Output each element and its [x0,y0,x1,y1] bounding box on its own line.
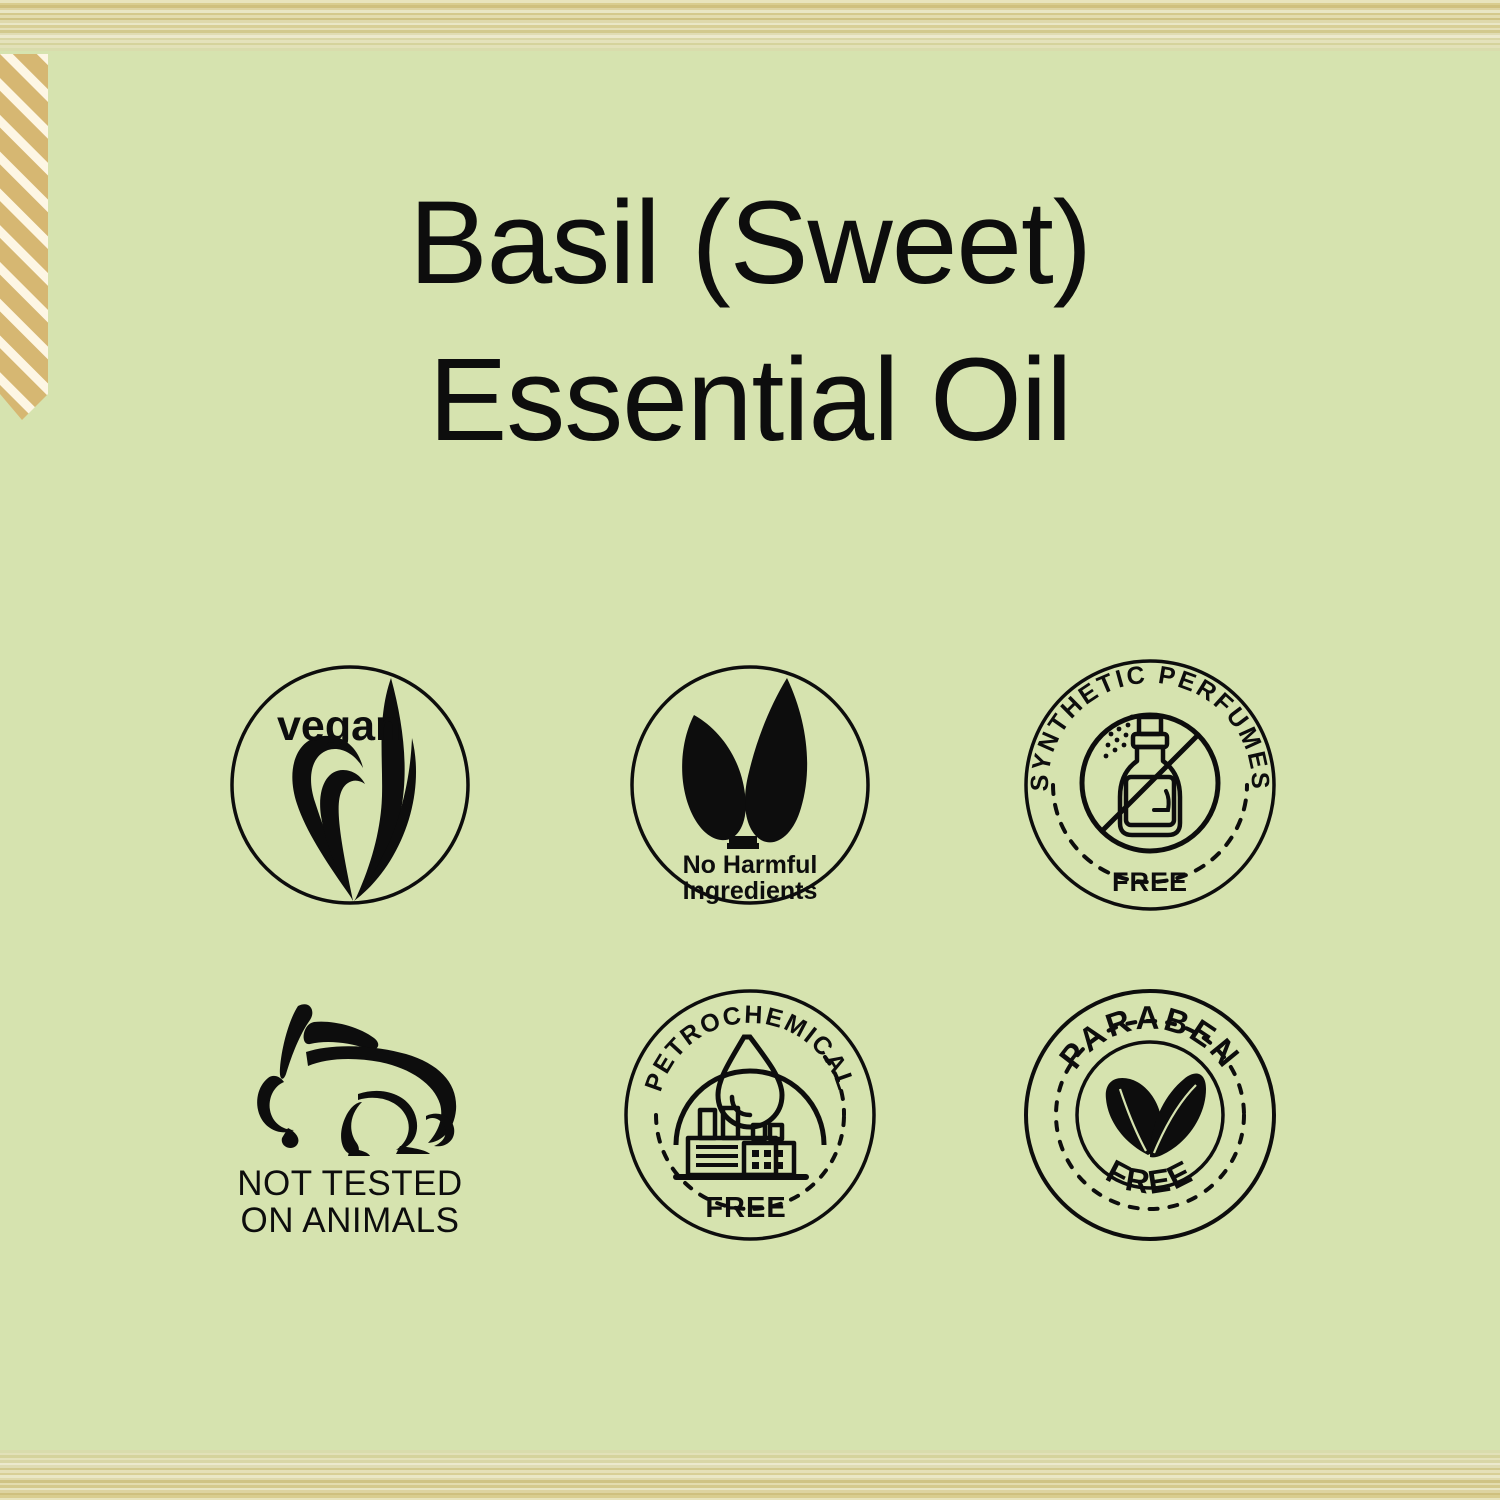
badge-ntoa-line1: NOT TESTED [237,1164,462,1203]
badge-vegan: vegan vegan [200,635,500,935]
product-banner: Basil (Sweet) Essential Oil vegan vegan … [0,0,1500,1500]
badge-paraben-free: PARABEN FREE PARABEN FREE [1000,965,1300,1265]
title-line-1: Basil (Sweet) [0,165,1500,322]
page-title: Basil (Sweet) Essential Oil [0,165,1500,479]
badge-not-tested-on-animals: NOT TESTED ON ANIMALS [200,965,500,1265]
title-line-2: Essential Oil [0,322,1500,479]
bottom-striped-border [0,1450,1500,1500]
badge-nhi-line2: Ingredients [683,877,818,905]
top-striped-border [0,0,1500,50]
corner-ribbon [0,54,48,420]
badge-spf-arc-text: SYNTHETIC PERFUMES [1026,661,1274,792]
stripe [0,48,1500,51]
badge-nhi-line1: No Harmful [683,851,818,879]
badge-petrochemical-free: PETROCHEMICAL FREE PETROCHEMICAL [600,965,900,1265]
badge-synthetic-perfumes-free: SYNTHETIC PERFUMES FREE SYNTHETIC PERFUM… [1000,635,1300,935]
badge-spf-free-text: FREE [1112,867,1188,897]
badge-pcf-free-text: FREE [705,1192,786,1224]
badge-pcf-arc-text: PETROCHEMICAL [639,1001,860,1095]
certification-badges: vegan vegan No Harmful Ingredients [150,620,1350,1280]
badge-pbf-free-text: FREE [1100,1152,1199,1201]
badge-vegan-text: vegan [277,702,401,750]
badge-no-harmful-ingredients: No Harmful Ingredients No Harmful Ingred… [600,635,900,935]
badge-ntoa-line2: ON ANIMALS [241,1201,460,1240]
